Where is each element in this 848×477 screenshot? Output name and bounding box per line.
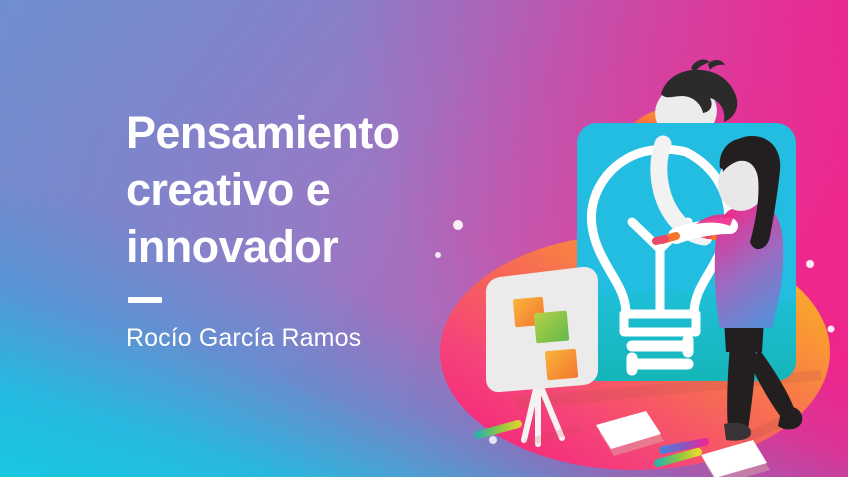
decor-dot-4: [806, 260, 814, 268]
title-divider: [128, 297, 162, 303]
creative-thinking-illustration: [420, 40, 848, 477]
title-text-block: Pensamiento creativo e innovador Rocío G…: [126, 104, 456, 353]
author-subtitle: Rocío García Ramos: [126, 323, 456, 353]
sticky-note-green: [534, 311, 569, 344]
decor-dot-5: [489, 436, 497, 444]
page-title: Pensamiento creativo e innovador: [126, 104, 456, 275]
decor-dot-3: [828, 326, 835, 333]
sticky-note-orange-2: [545, 349, 578, 381]
presentation-title-slide: Pensamiento creativo e innovador Rocío G…: [0, 0, 848, 477]
